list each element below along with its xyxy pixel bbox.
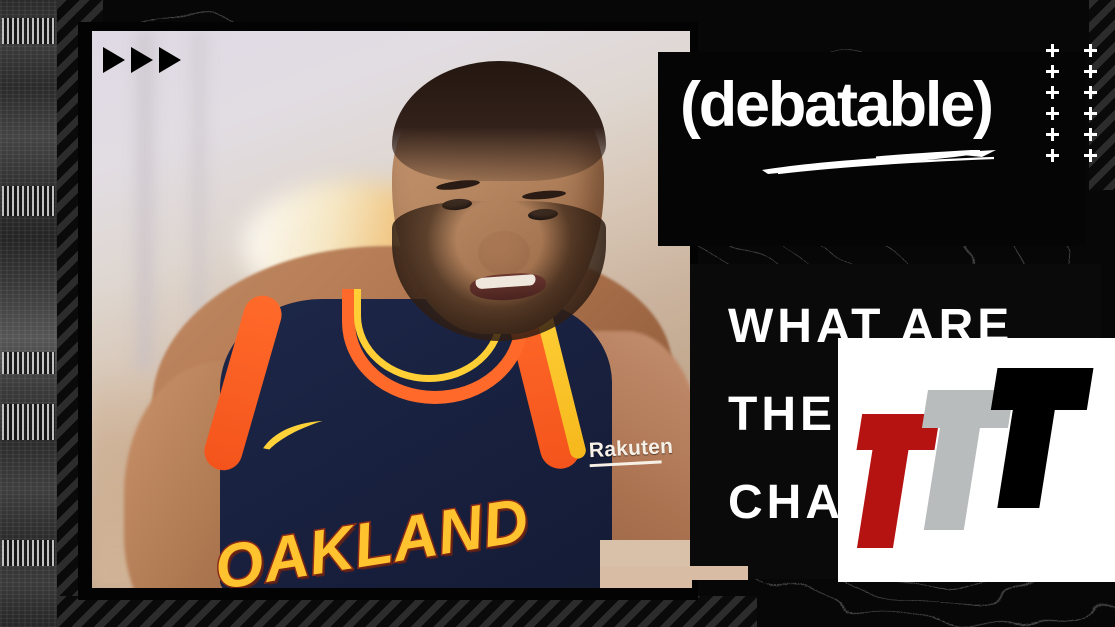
video-thumbnail-stage: Rakuten OAKLAND 30 ( [0,0,1115,627]
show-title: (debatable) [680,74,992,137]
ttt-logo-card [838,338,1115,582]
plus-mark-grid [1046,44,1106,170]
plus-mark-icon [1046,44,1059,57]
plus-mark-icon [1084,149,1097,162]
accent-bar-c [690,566,748,580]
plus-mark-icon [1084,86,1097,99]
plus-mark-icon [1046,86,1059,99]
plus-mark-icon [1084,65,1097,78]
plus-mark-icon [1046,107,1059,120]
left-texture-strip [0,0,57,627]
play-triangle-icon [131,47,153,73]
plus-mark-icon [1046,128,1059,141]
ttt-logo-icon [852,352,1101,568]
headline-line-2: THE [728,376,836,454]
play-triangle-icon [159,47,181,73]
diagonal-stripe-band-bottom [57,596,757,627]
plus-mark-icon [1084,44,1097,57]
plus-mark-icon [1084,107,1097,120]
scribble-underline-icon [758,150,1003,176]
plus-mark-icon [1046,65,1059,78]
play-triangle-icon [103,47,125,73]
jersey-sponsor-text: Rakuten [588,435,674,467]
headline-line-3: CHA [728,464,844,542]
show-brand-panel: (debatable) [658,52,1085,246]
play-arrows-group [103,47,181,73]
accent-bar-b [600,566,692,588]
plus-mark-icon [1046,149,1059,162]
plus-mark-icon [1084,128,1097,141]
player-photo: Rakuten OAKLAND 30 [92,31,690,588]
